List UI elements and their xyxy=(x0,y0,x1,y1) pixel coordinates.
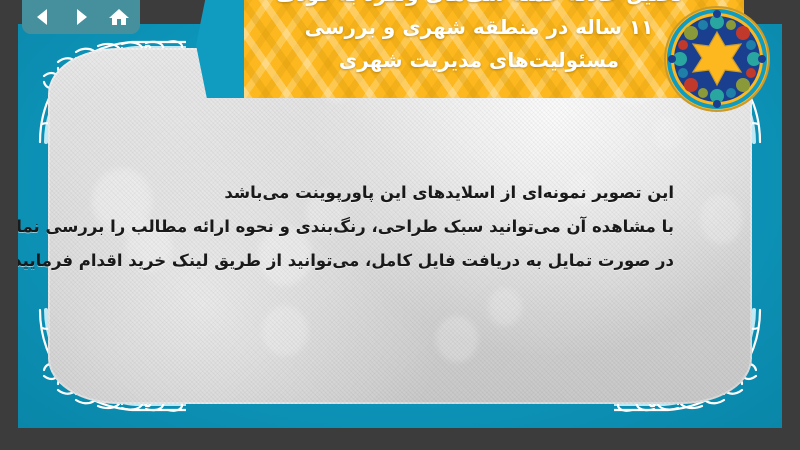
bokeh-circle xyxy=(436,316,478,362)
persian-rosette-ornament xyxy=(662,4,772,114)
bokeh-circle xyxy=(488,288,522,326)
body-line-1: این تصویر نمونه‌ای از اسلایدهای این پاور… xyxy=(34,176,674,210)
slide-title: تحلیل حادثه حمله سگ‌های ولگرد به کودک ۱۱… xyxy=(244,0,714,100)
triangle-left-icon xyxy=(33,7,53,27)
slide-body-text: این تصویر نمونه‌ای از اسلایدهای این پاور… xyxy=(34,176,674,278)
bokeh-circle xyxy=(700,194,742,244)
bokeh-circle xyxy=(652,116,682,150)
body-line-3: در صورت تمایل به دریافت فایل کامل، می‌تو… xyxy=(34,244,674,278)
bokeh-circle xyxy=(262,306,308,356)
home-icon xyxy=(108,7,130,27)
slide-content-panel: این تصویر نمونه‌ای از اسلایدهای این پاور… xyxy=(48,48,752,404)
navigation-bar xyxy=(22,0,140,34)
title-line-3: مسئولیت‌های مدیریت شهری xyxy=(244,44,714,77)
next-button[interactable] xyxy=(69,5,93,29)
slide-viewer: این تصویر نمونه‌ای از اسلایدهای این پاور… xyxy=(0,0,800,450)
triangle-right-icon xyxy=(71,7,91,27)
title-line-2: ۱۱ ساله در منطقه شهری و بررسی xyxy=(244,11,714,44)
title-line-1: تحلیل حادثه حمله سگ‌های ولگرد به کودک xyxy=(244,0,714,11)
previous-button[interactable] xyxy=(31,5,55,29)
home-button[interactable] xyxy=(107,5,131,29)
body-line-2: با مشاهده آن می‌توانید سبک طراحی، رنگ‌بن… xyxy=(34,210,674,244)
